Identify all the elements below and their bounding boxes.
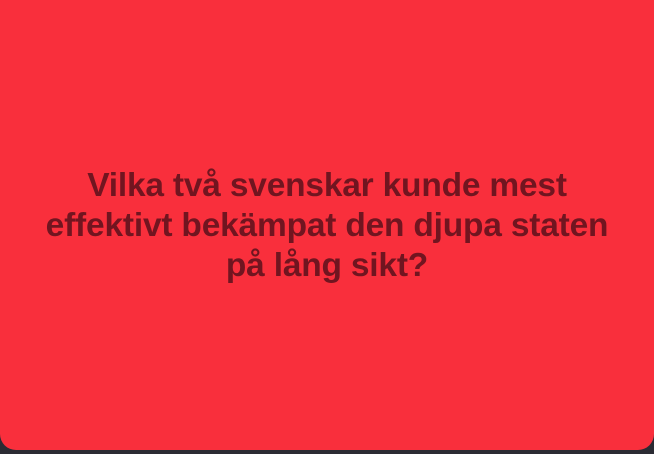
- question-card: Vilka två svenskar kunde mest effektivt …: [0, 0, 654, 450]
- question-body: Vilka två svenskar kunde mest effektivt …: [0, 166, 654, 286]
- question-text: Vilka två svenskar kunde mest effektivt …: [22, 166, 632, 286]
- screen: Vilka två svenskar kunde mest effektivt …: [0, 0, 654, 454]
